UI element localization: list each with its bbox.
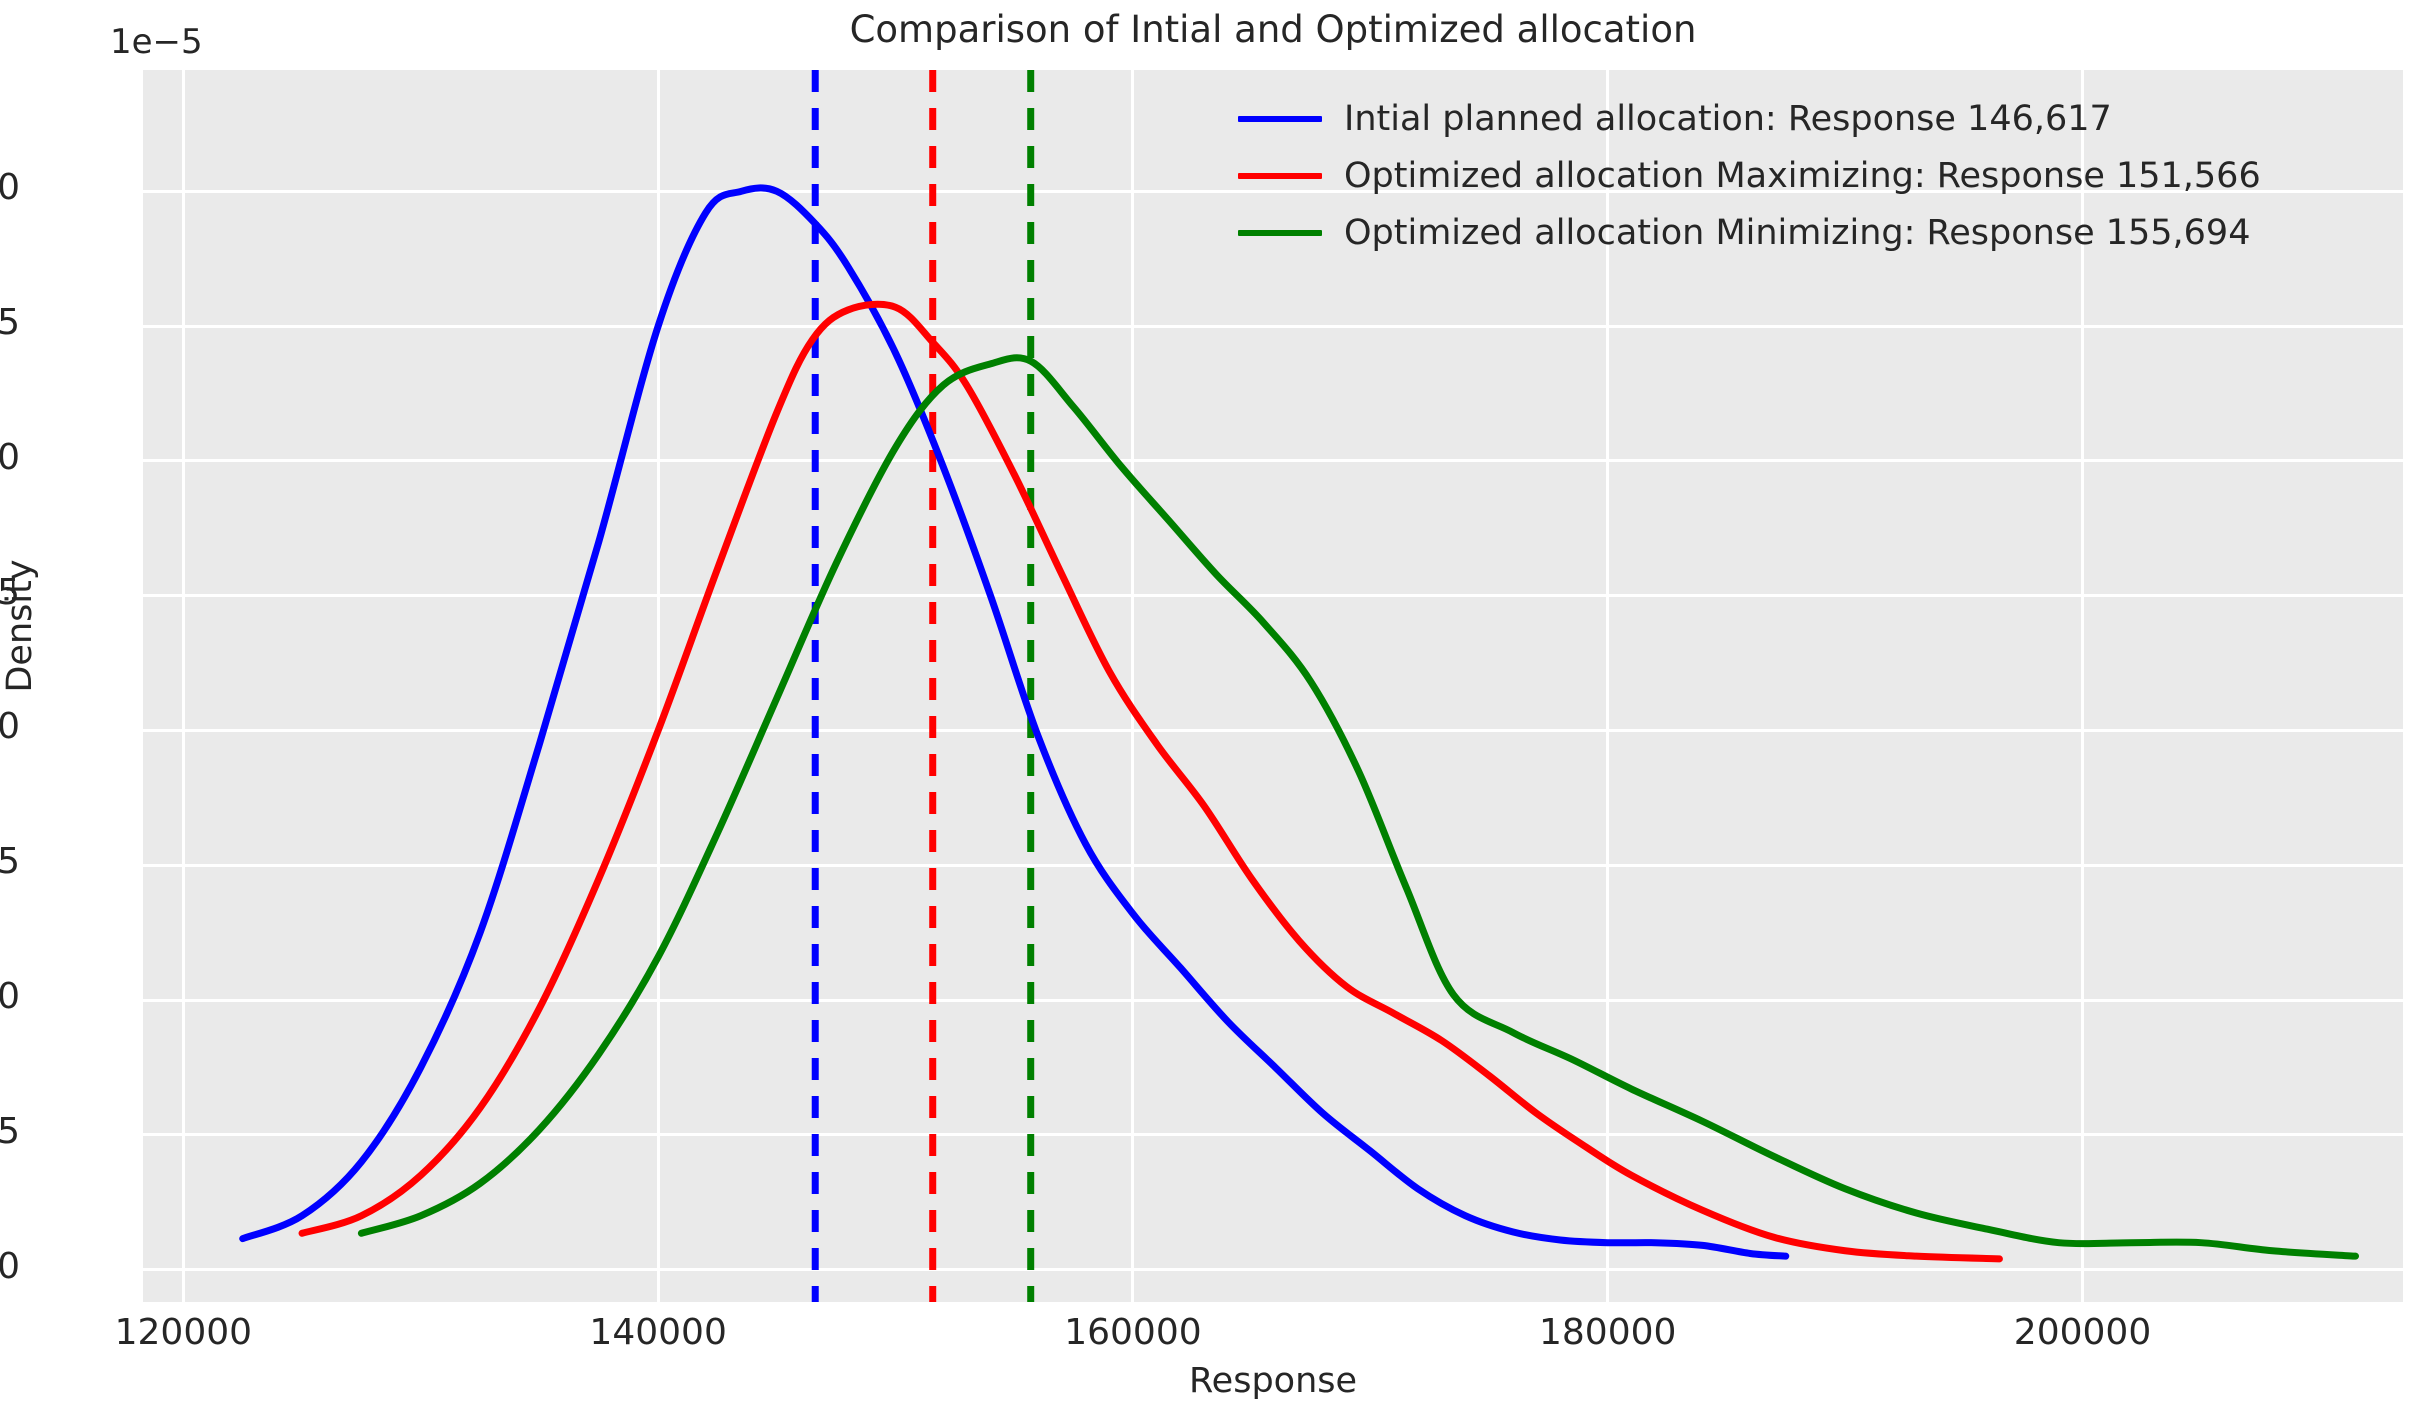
legend-color-swatch (1238, 173, 1322, 179)
y-tick-label: 0.0 (0, 1246, 20, 1287)
x-tick-label: 160000 (983, 1312, 1283, 1353)
page-title: Comparison of Intial and Optimized alloc… (143, 8, 2403, 51)
legend-item[interactable]: Optimized allocation Minimizing: Respons… (1222, 204, 2390, 261)
legend-item-label: Optimized allocation Minimizing: Respons… (1344, 213, 2250, 253)
y-tick-label: 3.0 (0, 437, 20, 478)
x-tick-label: 180000 (1458, 1312, 1758, 1353)
y-axis-title: Density (0, 526, 40, 726)
y-tick-label: 0.5 (0, 1111, 20, 1152)
x-tick-label: 120000 (33, 1312, 333, 1353)
density-curve (302, 304, 1999, 1259)
legend-item-label: Optimized allocation Maximizing: Respons… (1344, 156, 2261, 196)
legend-color-swatch (1238, 230, 1322, 236)
x-tick-label: 140000 (508, 1312, 808, 1353)
legend-item-label: Intial planned allocation: Response 146,… (1344, 99, 2112, 139)
legend-item[interactable]: Optimized allocation Maximizing: Respons… (1222, 147, 2390, 204)
chart-legend: Intial planned allocation: Response 146,… (1222, 82, 2390, 271)
x-axis-title: Response (143, 1361, 2403, 1401)
x-tick-label: 200000 (1933, 1312, 2233, 1353)
y-tick-label: 3.5 (0, 302, 20, 343)
y-tick-label: 4.0 (0, 167, 20, 208)
density-curve (243, 188, 1786, 1256)
legend-item[interactable]: Intial planned allocation: Response 146,… (1222, 90, 2390, 147)
density-comparison-figure: Comparison of Intial and Optimized alloc… (0, 0, 2423, 1423)
y-axis-offset-label: 1e−5 (110, 22, 203, 62)
density-curve (361, 358, 2355, 1256)
y-tick-label: 1.5 (0, 841, 20, 882)
y-tick-label: 1.0 (0, 976, 20, 1017)
legend-color-swatch (1238, 116, 1322, 122)
